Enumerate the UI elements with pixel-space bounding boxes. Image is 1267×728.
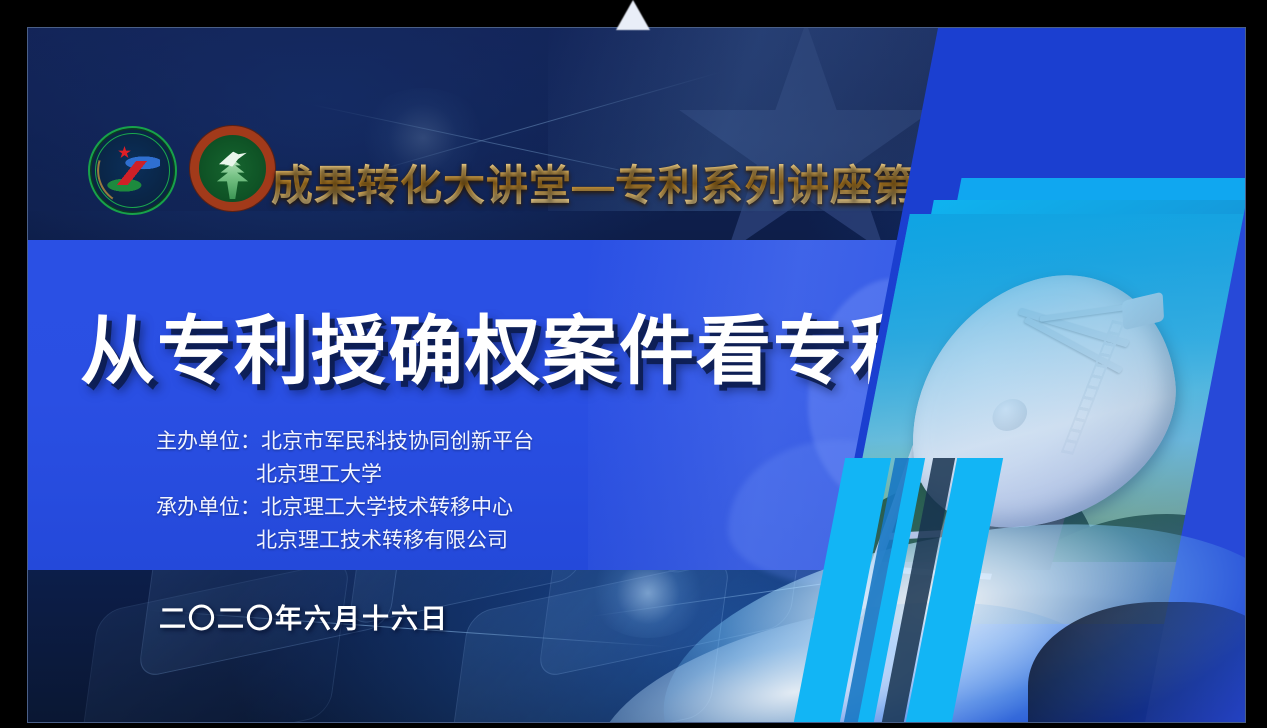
logo-beijing-institute-of-technology xyxy=(190,126,275,211)
slide-stage: 成果转化大讲堂—专利系列讲座第六期 从专利授确权案件看专利稳定性 主办单位：北京… xyxy=(0,0,1267,728)
organizer-line: 北京理工技术转移有限公司 xyxy=(156,524,534,557)
star-tip-decoration xyxy=(616,0,650,30)
organizer-block: 主办单位：北京市军民科技协同创新平台 北京理工大学 承办单位：北京理工大学技术转… xyxy=(156,425,534,557)
organizer-line: 北京理工大学 xyxy=(156,458,534,491)
logo-beijing-military-civilian-platform xyxy=(88,126,177,215)
organizer-line: 主办单位：北京市军民科技协同创新平台 xyxy=(156,425,534,458)
event-date: 二〇二〇年六月十六日 xyxy=(159,597,449,636)
organizer-line: 承办单位：北京理工大学技术转移中心 xyxy=(156,491,534,524)
presentation-slide: 成果转化大讲堂—专利系列讲座第六期 从专利授确权案件看专利稳定性 主办单位：北京… xyxy=(28,28,1245,722)
